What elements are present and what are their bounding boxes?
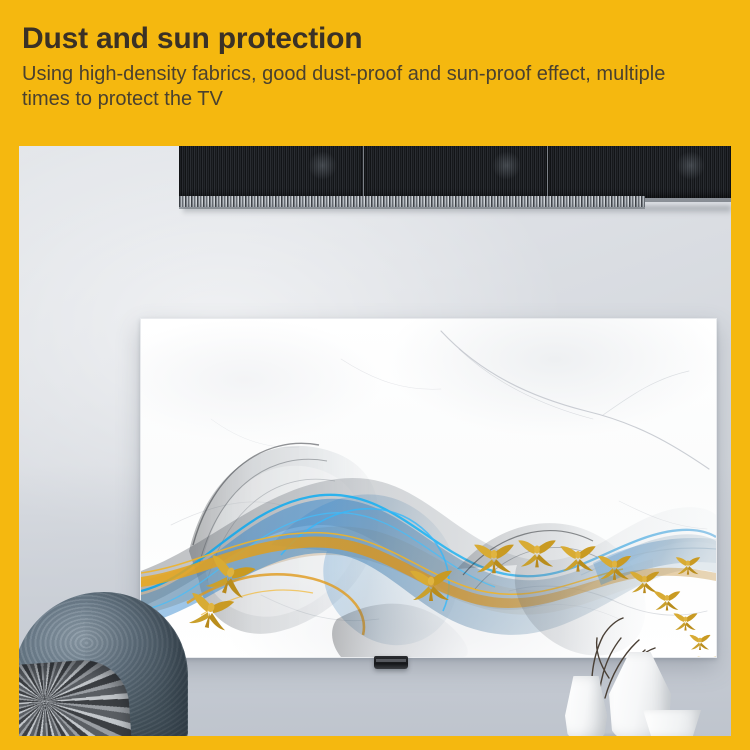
ceramic-bowl	[643, 710, 701, 736]
cabinet-drop-shadow	[183, 206, 731, 215]
cabinet-panel	[364, 146, 548, 198]
wall-mounted-tv	[140, 318, 717, 658]
cabinet-panel	[548, 146, 731, 198]
tv-screen	[141, 319, 716, 657]
golden-bird-icon	[675, 555, 701, 577]
golden-bird-icon	[559, 543, 597, 575]
page-title: Dust and sun protection	[22, 22, 722, 56]
tv-stand-foot	[374, 656, 408, 669]
golden-bird-icon	[653, 589, 681, 613]
header-text-block: Dust and sun protection Using high-densi…	[22, 22, 722, 112]
cabinet-panels	[179, 146, 731, 198]
armchair	[19, 590, 191, 736]
golden-bird-icon	[597, 553, 632, 583]
golden-bird-icon	[409, 567, 453, 605]
golden-bird-icon	[517, 537, 557, 571]
golden-bird-icon	[473, 541, 515, 577]
promo-banner: Dust and sun protection Using high-densi…	[0, 0, 750, 750]
page-subtitle: Using high-density fabrics, good dust-pr…	[22, 62, 702, 112]
product-photo	[19, 146, 731, 736]
vase-group	[551, 620, 721, 736]
wall-cabinet	[179, 146, 731, 208]
cabinet-panel	[179, 146, 364, 198]
